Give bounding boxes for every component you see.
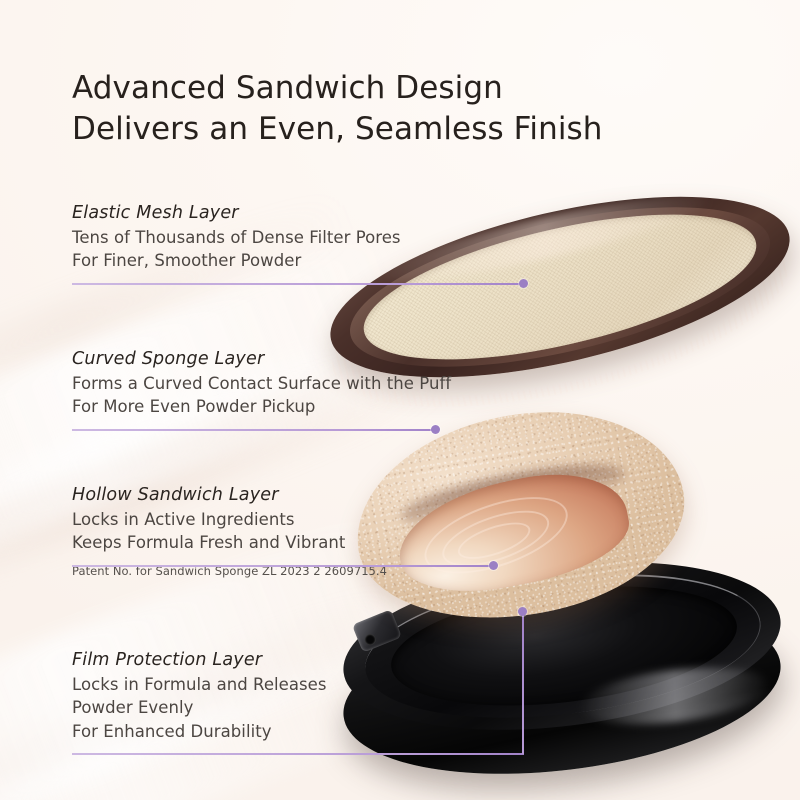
callout-line: Powder Evenly [72, 696, 327, 719]
callout-line: Keeps Formula Fresh and Vibrant [72, 531, 387, 554]
leader-line-4 [72, 753, 524, 755]
callout-elastic-mesh-layer: Elastic Mesh Layer Tens of Thousands of … [72, 203, 401, 273]
leader-line-2 [72, 429, 435, 431]
callout-curved-sponge-layer: Curved Sponge Layer Forms a Curved Conta… [72, 349, 451, 419]
leader-dot-2 [431, 425, 440, 434]
page-title: Advanced Sandwich Design Delivers an Eve… [72, 68, 692, 150]
callout-line: Locks in Formula and Releases [72, 673, 327, 696]
sponge-puff-image [355, 415, 705, 635]
leader-dot-4 [518, 607, 527, 616]
leader-line-4-vertical [522, 612, 524, 754]
callout-line: For Finer, Smoother Powder [72, 249, 401, 272]
callout-heading: Hollow Sandwich Layer [72, 485, 387, 505]
callout-line: Forms a Curved Contact Surface with the … [72, 372, 451, 395]
callout-line: Locks in Active Ingredients [72, 508, 387, 531]
callout-line: For Enhanced Durability [72, 720, 327, 743]
leader-dot-1 [519, 279, 528, 288]
leader-line-1 [72, 283, 523, 285]
callout-heading: Curved Sponge Layer [72, 349, 451, 369]
callout-line: For More Even Powder Pickup [72, 395, 451, 418]
callout-heading: Elastic Mesh Layer [72, 203, 401, 223]
infographic-canvas: Advanced Sandwich Design Delivers an Eve… [0, 0, 800, 800]
leader-line-3 [72, 565, 493, 567]
callout-heading: Film Protection Layer [72, 650, 327, 670]
callout-hollow-sandwich-layer: Hollow Sandwich Layer Locks in Active In… [72, 485, 387, 578]
leader-dot-3 [489, 561, 498, 570]
callout-film-protection-layer: Film Protection Layer Locks in Formula a… [72, 650, 327, 743]
callout-line: Tens of Thousands of Dense Filter Pores [72, 226, 401, 249]
